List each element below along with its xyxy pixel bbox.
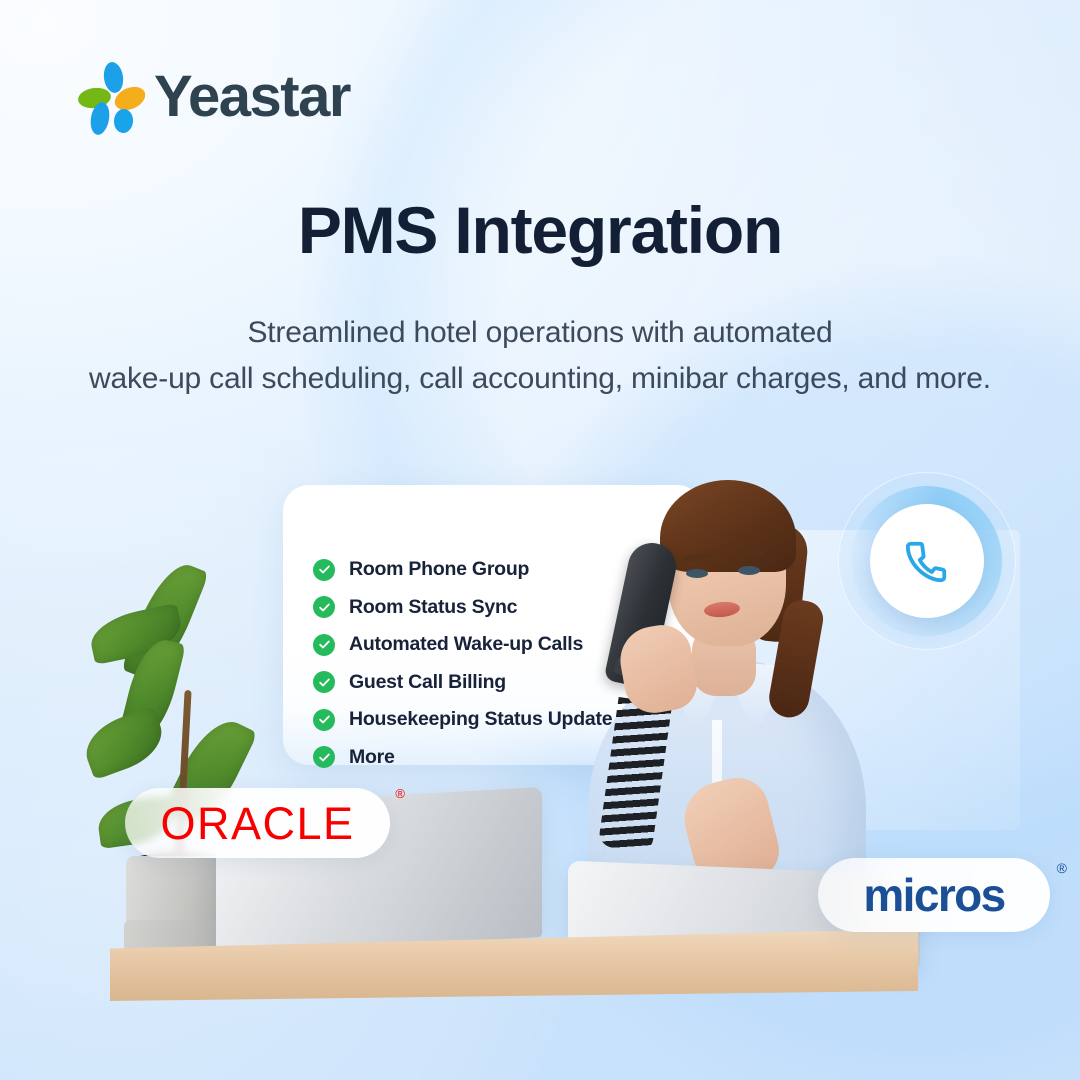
eye-left <box>686 569 708 578</box>
oracle-badge[interactable]: ORACLE ® <box>125 788 390 858</box>
logo-petal-blue-bottom-right <box>113 108 134 133</box>
check-circle-icon <box>313 559 335 581</box>
check-circle-icon <box>313 746 335 768</box>
check-circle-icon <box>313 634 335 656</box>
phone-handset-icon <box>904 538 950 584</box>
page-title: PMS Integration <box>0 196 1080 265</box>
micros-trademark-symbol: ® <box>1057 860 1067 876</box>
micros-wordmark: micros <box>863 872 1004 918</box>
hero-scene: Room Phone GroupRoom Status SyncAutomate… <box>0 430 1080 1080</box>
subtitle-line-2: wake-up call scheduling, call accounting… <box>0 356 1080 402</box>
feature-item-label: Automated Wake-up Calls <box>349 633 583 656</box>
oracle-wordmark: ORACLE <box>160 801 354 846</box>
yeastar-pinwheel-logo-icon <box>78 62 140 132</box>
poster-canvas: Yeastar PMS Integration Streamlined hote… <box>0 0 1080 1080</box>
plant-leaf <box>78 706 170 780</box>
feature-item-label: Room Status Sync <box>349 596 517 619</box>
micros-badge[interactable]: micros ® <box>818 858 1050 932</box>
check-circle-icon <box>313 596 335 618</box>
check-circle-icon <box>313 671 335 693</box>
check-circle-icon <box>313 709 335 731</box>
feature-item-label: Room Phone Group <box>349 558 529 581</box>
headline-block: PMS Integration <box>0 196 1080 265</box>
brand-logo[interactable]: Yeastar <box>78 62 350 132</box>
feature-item-label: More <box>349 746 395 769</box>
feature-item-label: Guest Call Billing <box>349 671 506 694</box>
oracle-trademark-symbol: ® <box>395 786 405 801</box>
page-subtitle: Streamlined hotel operations with automa… <box>0 310 1080 401</box>
hair <box>660 480 796 572</box>
brand-wordmark: Yeastar <box>154 68 350 126</box>
subtitle-line-1: Streamlined hotel operations with automa… <box>0 310 1080 356</box>
eye-right <box>738 566 760 575</box>
